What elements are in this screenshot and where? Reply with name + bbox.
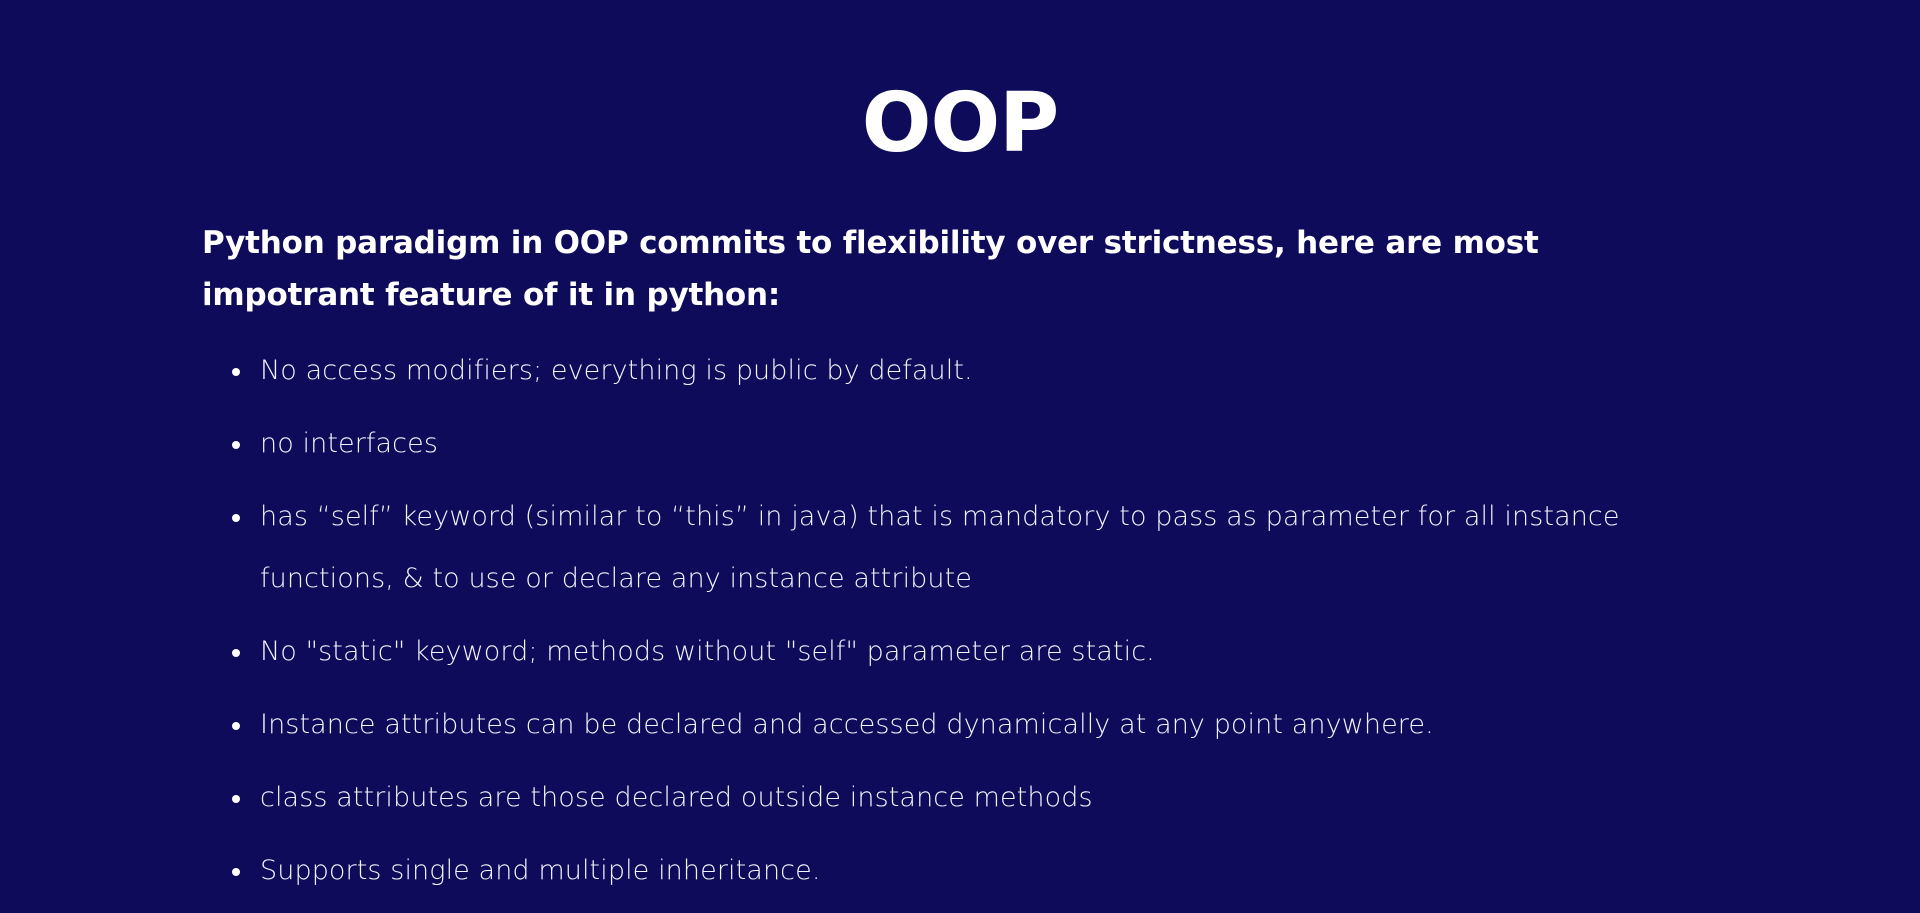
bullet-dot-icon: [232, 868, 240, 876]
bullet-dot-icon: [232, 514, 240, 522]
bullet-dot-icon: [232, 649, 240, 657]
list-item: has “self” keyword (similar to “this” in…: [232, 486, 1692, 610]
list-item: No access modifiers; everything is publi…: [232, 340, 1692, 402]
bullet-dot-icon: [232, 368, 240, 376]
bullet-dot-icon: [232, 795, 240, 803]
list-item: Supports single and multiple inheritance…: [232, 840, 1692, 902]
bullet-dot-icon: [232, 441, 240, 449]
bullet-dot-icon: [232, 722, 240, 730]
list-item-label: has “self” keyword (similar to “this” in…: [260, 486, 1692, 610]
page-title: OOP: [0, 77, 1920, 171]
list-item: no interfaces: [232, 413, 1692, 475]
list-item-label: no interfaces: [260, 413, 1692, 475]
list-item: Instance attributes can be declared and …: [232, 694, 1692, 756]
list-item-label: No access modifiers; everything is publi…: [260, 340, 1692, 402]
list-item-label: No "static" keyword; methods without "se…: [260, 621, 1692, 683]
list-item: class attributes are those declared outs…: [232, 767, 1692, 829]
slide-container: OOP Python paradigm in OOP commits to fl…: [0, 0, 1920, 905]
list-item-label: class attributes are those declared outs…: [260, 767, 1692, 829]
lead-paragraph: Python paradigm in OOP commits to flexib…: [202, 217, 1602, 321]
list-item-label: Instance attributes can be declared and …: [260, 694, 1692, 756]
list-item: No "static" keyword; methods without "se…: [232, 621, 1692, 683]
feature-list: No access modifiers; everything is publi…: [232, 340, 1692, 913]
list-item-label: Supports single and multiple inheritance…: [260, 840, 1692, 902]
